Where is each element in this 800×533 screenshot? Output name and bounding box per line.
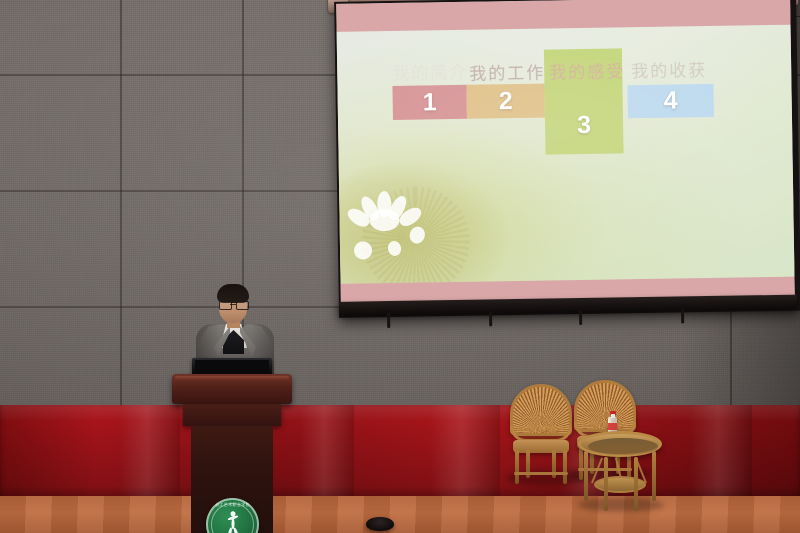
podium-top bbox=[172, 374, 292, 404]
slide-title-0: 我的简介 bbox=[392, 58, 468, 84]
round-table bbox=[578, 431, 662, 511]
screen-hook bbox=[387, 313, 390, 328]
podium: 浙江艺术职业学院 ZHEJIANG VOCATIONAL ACADEMY OF … bbox=[172, 374, 292, 533]
institution-emblem: 浙江艺术职业学院 ZHEJIANG VOCATIONAL ACADEMY OF … bbox=[206, 498, 259, 533]
dancer-icon bbox=[226, 512, 239, 533]
podium-body: 浙江艺术职业学院 ZHEJIANG VOCATIONAL ACADEMY OF … bbox=[191, 426, 273, 533]
screen-surface: 1 2 3 4 我的简介 我的工作 我的感受 bbox=[336, 0, 795, 312]
slide-title-1: 我的工作 bbox=[469, 59, 545, 85]
chair-leg bbox=[563, 450, 567, 484]
podium-lip bbox=[175, 376, 289, 380]
laptop-screen bbox=[195, 360, 269, 374]
table-leg bbox=[634, 457, 638, 511]
screen-hook bbox=[579, 310, 582, 325]
screen-hook bbox=[681, 308, 684, 323]
slide-title-3: 我的收获 bbox=[631, 56, 707, 82]
slide-canvas: 1 2 3 4 我的简介 我的工作 我的感受 bbox=[337, 25, 795, 284]
slide-section-titles: 我的简介 我的工作 我的感受 我的收获 bbox=[337, 25, 795, 284]
chair-left bbox=[510, 384, 572, 488]
floor-object bbox=[366, 517, 394, 531]
conference-hall-photo: 1 2 3 4 我的简介 我的工作 我的感受 bbox=[0, 0, 800, 533]
table-glass-surface bbox=[588, 438, 658, 455]
glasses-icon bbox=[219, 301, 247, 308]
table-leg bbox=[652, 451, 656, 501]
wooden-floor bbox=[0, 496, 800, 533]
projection-screen: 1 2 3 4 我的简介 我的工作 我的感受 bbox=[326, 0, 800, 324]
podium-midsection bbox=[183, 404, 281, 426]
screen-hook bbox=[489, 311, 492, 326]
chair-seat bbox=[513, 440, 569, 453]
table-lower-shelf bbox=[594, 476, 646, 493]
table-leg bbox=[584, 451, 588, 501]
chair-stretcher bbox=[514, 472, 568, 475]
table-leg bbox=[604, 457, 608, 511]
bottle-label bbox=[608, 423, 617, 430]
table-top bbox=[578, 431, 662, 457]
emblem-text-top: 浙江艺术职业学院 bbox=[206, 502, 259, 508]
chair-leg bbox=[515, 450, 519, 484]
slide-title-2: 我的感受 bbox=[549, 57, 625, 83]
